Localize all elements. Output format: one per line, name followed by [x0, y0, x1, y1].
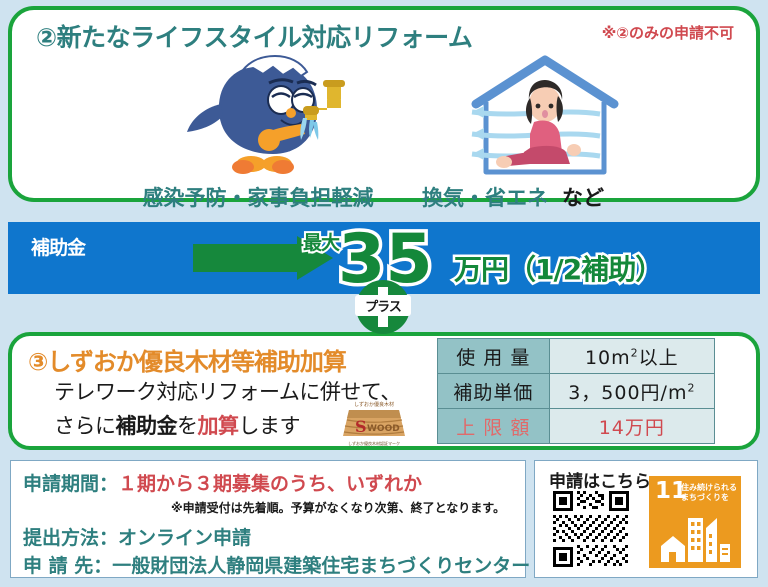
- application-destination-value: 一般財団法人静岡県建築住宅まちづくりセンター: [112, 555, 530, 577]
- sdg-text: 住み続けられる まちづくりを: [681, 483, 737, 503]
- table-cell-label: 補助単価: [438, 374, 550, 409]
- application-destination-row: 申 請 先：一般財団法人静岡県建築住宅まちづくりセンター: [23, 551, 530, 578]
- application-period-value: １期から３期募集のうち、いずれか: [118, 473, 422, 495]
- section-3-line2: さらに補助金を加算します: [54, 410, 300, 440]
- qr-box: 申請はこちら: [534, 460, 758, 578]
- value-main: 3，500円/m: [568, 382, 687, 404]
- bird-mascot-icon: [177, 50, 377, 180]
- table-cell-label: 上 限 額: [438, 409, 550, 444]
- caption-right-suffix: など: [562, 186, 604, 210]
- plus-badge: プラス: [356, 280, 410, 334]
- application-destination-label: 申 請 先：: [23, 555, 112, 577]
- line2-part-b: 補助金: [116, 414, 178, 438]
- caption-right-main: 換気・省エネ: [422, 186, 548, 210]
- application-period-note: ※申請受付は先着順。予算がなくなり次第、終了となります。: [171, 499, 505, 516]
- house-ventilation-icon: [450, 52, 640, 180]
- subsidy-arrow-label: 補助金: [16, 233, 100, 260]
- infographic-page: ②新たなライフスタイル対応リフォーム ※②のみの申請不可: [0, 0, 768, 587]
- application-info-box: 申請期間：１期から３期募集のうち、いずれか ※申請受付は先着順。予算がなくなり次…: [10, 460, 526, 578]
- table-cell-label: 使 用 量: [438, 339, 550, 374]
- value-superscript: 2: [631, 346, 639, 359]
- section-2-note: ※②のみの申請不可: [602, 22, 734, 43]
- table-row: 上 限 額 14万円: [438, 409, 715, 444]
- table-row: 補助単価 3，500円/m2: [438, 374, 715, 409]
- submission-method-value: オンライン申請: [118, 527, 251, 549]
- max-label: 最大: [303, 228, 339, 255]
- sdg-text-line1: 住み続けられる: [681, 483, 737, 493]
- section-2-caption-right: 換気・省エネなど: [422, 182, 722, 212]
- svg-text:しずおか優良木材: しずおか優良木材: [354, 401, 394, 408]
- svg-text:しずおか優良木材認証マーク: しずおか優良木材認証マーク: [348, 440, 400, 446]
- plus-badge-label: プラス: [355, 295, 411, 316]
- svg-text:WOOD: WOOD: [367, 424, 400, 434]
- subsidy-addition-table: 使 用 量 10m2以上 補助単価 3，500円/m2 上 限 額 14万円: [437, 338, 715, 444]
- line2-part-d: 加算: [198, 414, 239, 438]
- table-cell-value: 14万円: [549, 409, 714, 444]
- subsidy-unit: 万円（1/2補助）: [454, 248, 662, 288]
- section-2-panel: ②新たなライフスタイル対応リフォーム ※②のみの申請不可: [8, 6, 760, 202]
- shizuoka-wood-mark-icon: しずおか優良木材 S WOOD しずおか優良木材認証マーク: [337, 398, 411, 448]
- submission-method-label: 提出方法：: [23, 527, 118, 549]
- value-superscript: 2: [687, 381, 695, 394]
- line2-part-c: を: [177, 414, 198, 438]
- value-tail: 以上: [639, 347, 679, 369]
- submission-method-row: 提出方法：オンライン申請: [23, 523, 251, 550]
- section-2-title: ②新たなライフスタイル対応リフォーム: [36, 18, 472, 54]
- application-period-row: 申請期間：１期から３期募集のうち、いずれか: [23, 469, 422, 496]
- section-3-title: ③しずおか優良木材等補助加算: [28, 342, 346, 377]
- table-cell-value: 3，500円/m2: [549, 374, 714, 409]
- sdg-goal-11-badge: 11 住み続けられる まちづくりを: [649, 476, 741, 568]
- svg-text:S: S: [355, 417, 367, 436]
- line2-part-e: します: [239, 414, 301, 438]
- sdg-text-line2: まちづくりを: [681, 493, 737, 503]
- sdg-city-buildings-icon: [659, 512, 731, 562]
- application-period-label: 申請期間：: [23, 473, 118, 495]
- line2-part-a: さらに: [54, 414, 116, 438]
- value-main: 10m: [585, 347, 631, 369]
- table-row: 使 用 量 10m2以上: [438, 339, 715, 374]
- section-2-caption-left: 感染予防・家事負担軽減: [108, 182, 408, 212]
- table-cell-value: 10m2以上: [549, 339, 714, 374]
- application-qr-code[interactable]: [551, 489, 631, 569]
